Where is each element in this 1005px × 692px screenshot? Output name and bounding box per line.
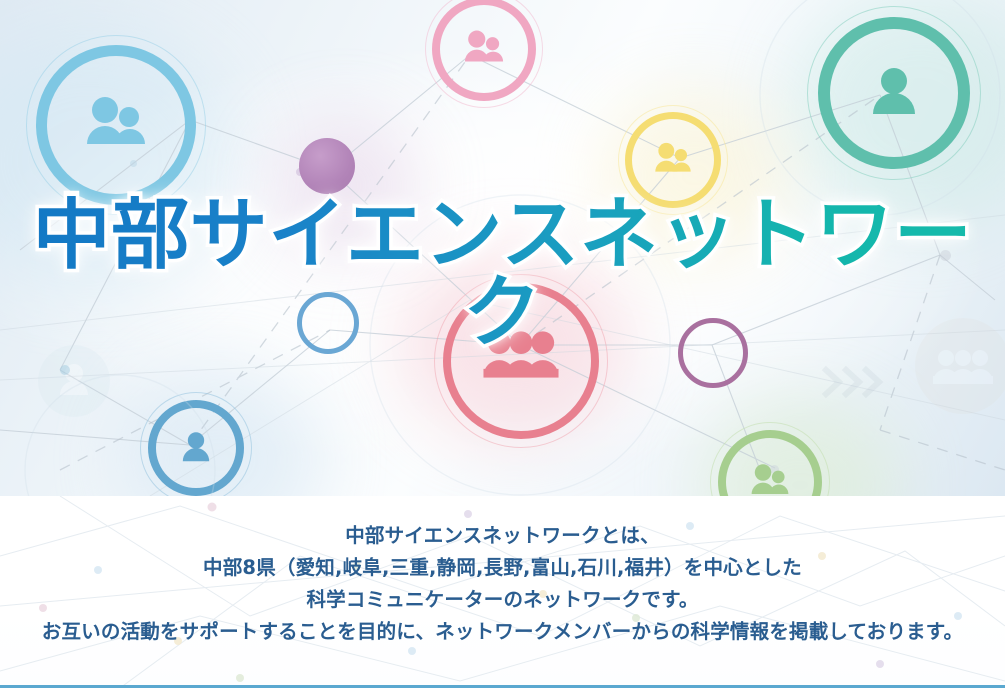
empty-ring-icon (678, 318, 748, 388)
page-root: 中部サイエンスネットワーク 中部サイエンスネットワーク (0, 0, 1005, 692)
two-people-icon (648, 135, 698, 185)
node-blue-ring (297, 292, 359, 354)
ghost-node-left (38, 345, 110, 417)
double-chevron-right-icon (820, 365, 890, 399)
node-top-right (818, 17, 970, 169)
hero-banner: 中部サイエンスネットワーク 中部サイエンスネットワーク (0, 0, 1005, 496)
node-top-pink (432, 0, 536, 101)
one-person-icon (859, 58, 929, 128)
three-people-icon (915, 318, 1005, 414)
node-lower-right (718, 430, 822, 496)
node-top-left (36, 45, 196, 205)
empty-ring-icon (297, 292, 359, 354)
ghost-node-right (915, 318, 1005, 414)
node-purple-ring (678, 318, 748, 388)
two-people-icon (457, 22, 511, 76)
two-people-icon (744, 456, 796, 496)
node-yellow (625, 112, 721, 208)
node-purple-dot (299, 138, 355, 194)
intro-text-block: 中部サイエンスネットワークとは、 中部8県（愛知,岐阜,三重,静岡,長野,富山,… (0, 496, 1005, 648)
bottom-divider (0, 685, 1005, 688)
three-people-icon (473, 313, 569, 409)
node-lower-left (148, 400, 244, 496)
two-people-icon (75, 84, 157, 166)
one-person-icon (174, 426, 218, 470)
node-center (443, 283, 599, 439)
one-person-icon (38, 345, 110, 417)
intro-section: 中部サイエンスネットワークとは、 中部8県（愛知,岐阜,三重,静岡,長野,富山,… (0, 496, 1005, 688)
intro-line-1: 中部サイエンスネットワークとは、 (0, 520, 1005, 552)
dot-small-2 (940, 250, 951, 261)
intro-line-3: 科学コミュニケーターのネットワークです。 (0, 584, 1005, 616)
intro-line-2: 中部8県（愛知,岐阜,三重,静岡,長野,富山,石川,福井）を中心とした (0, 552, 1005, 584)
chevron-decoration (820, 365, 890, 404)
intro-line-4: お互いの活動をサポートすることを目的に、ネットワークメンバーからの科学情報を掲載… (0, 616, 1005, 648)
dot-small-1 (60, 365, 70, 375)
